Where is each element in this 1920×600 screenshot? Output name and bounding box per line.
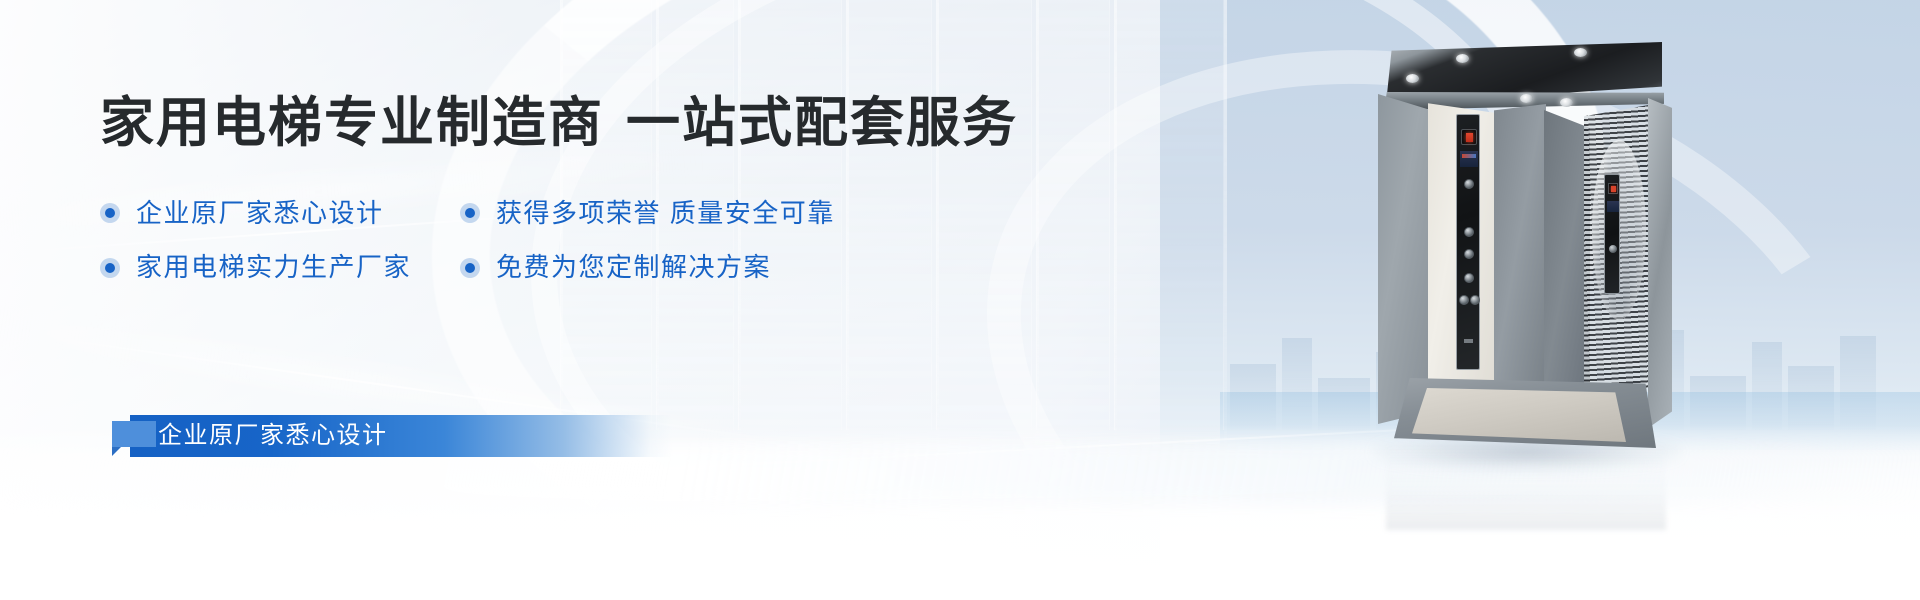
cabin-wall-left [1378,94,1432,424]
bullet-dot-icon [460,203,480,223]
promo-banner: 家用电梯专业制造商一站式配套服务 企业原厂家悉心设计 获得多项荣誉 质量安全可靠… [0,0,1920,600]
cop-button-floor-3 [1464,249,1474,259]
cop-button-reflected [1609,245,1617,253]
ribbon-flag-icon [112,421,156,447]
feature-item-3: 家用电梯实力生产厂家 [100,253,460,282]
elevator-floor-reflection [1386,440,1666,530]
feature-item-1: 企业原厂家悉心设计 [100,199,460,228]
feature-label-3: 家用电梯实力生产厂家 [136,253,411,282]
cop-button-floor-2 [1464,273,1474,283]
ceiling-light-icon [1456,54,1469,63]
bullet-dot-icon [100,258,120,278]
cop-brand-logo [1464,339,1473,343]
cop-button-close [1470,295,1480,305]
elevator-control-panel [1456,114,1480,370]
feature-list: 企业原厂家悉心设计 获得多项荣誉 质量安全可靠 家用电梯实力生产厂家 免费为您定… [100,199,1100,282]
ceiling-light-icon [1406,74,1419,83]
cabin-frame-right [1648,98,1672,428]
cop-info-screen [1460,151,1478,167]
highlight-tag-label: 企业原厂家悉心设计 [158,415,388,457]
headline-part-1: 家用电梯专业制造商 [100,93,604,153]
page-title: 家用电梯专业制造商一站式配套服务 [100,92,1100,155]
elevator-control-panel-reflected [1604,174,1620,294]
feature-label-2: 获得多项荣誉 质量安全可靠 [496,199,835,228]
cabin-floor-tile [1412,388,1626,442]
cop-button-floor-4 [1464,227,1474,237]
banner-copy-block: 家用电梯专业制造商一站式配套服务 企业原厂家悉心设计 获得多项荣誉 质量安全可靠… [100,92,1100,282]
feature-label-1: 企业原厂家悉心设计 [136,199,384,228]
bullet-dot-icon [100,203,120,223]
elevator-cabin-image [1378,42,1672,452]
cop-button-alarm [1464,179,1474,189]
cabin-wall-back [1544,110,1590,410]
cabin-wall-mid [1494,104,1546,420]
floor-indicator-display-reflected [1608,183,1618,194]
feature-item-4: 免费为您定制解决方案 [460,253,1100,282]
floor-indicator-display [1461,129,1477,145]
cop-info-screen-reflected [1607,201,1619,212]
feature-item-2: 获得多项荣誉 质量安全可靠 [460,199,1100,228]
headline-part-2: 一站式配套服务 [626,93,1018,153]
highlight-tag[interactable]: 企业原厂家悉心设计 [112,415,672,457]
ceiling-light-icon [1574,48,1587,57]
cop-button-open [1459,295,1469,305]
bullet-dot-icon [460,258,480,278]
feature-label-4: 免费为您定制解决方案 [496,253,771,282]
